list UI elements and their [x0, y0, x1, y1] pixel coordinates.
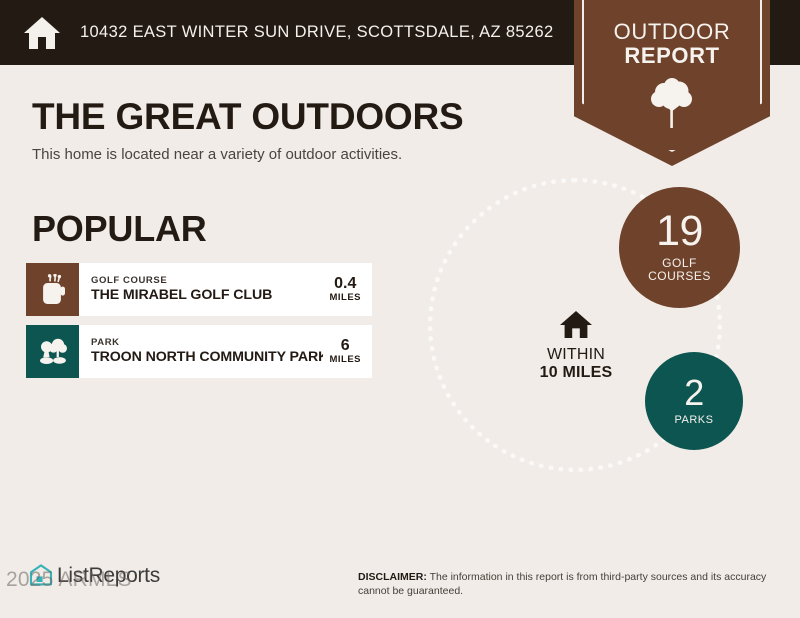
badge-title: OUTDOOR REPORT	[574, 20, 770, 68]
stat-label-line2: COURSES	[648, 269, 711, 283]
disclaimer: DISCLAIMER: The information in this repo…	[358, 570, 778, 599]
list-item-category: GOLF COURSE	[91, 276, 323, 286]
stat-label-line1: GOLF	[662, 256, 697, 270]
stat-golf-courses: 19 GOLF COURSES	[619, 187, 740, 308]
list-item[interactable]: PARK TROON NORTH COMMUNITY PARK 6 MILES	[26, 325, 372, 378]
list-item[interactable]: GOLF COURSE THE MIRABEL GOLF CLUB 0.4 MI…	[26, 263, 372, 316]
distance-unit: MILES	[329, 354, 361, 365]
badge-title-line1: OUTDOOR	[574, 20, 770, 44]
stat-parks: 2 PARKS	[645, 352, 743, 450]
distance-value: 0.4	[334, 276, 356, 293]
disclaimer-label: DISCLAIMER:	[358, 571, 427, 583]
popular-heading: POPULAR	[32, 208, 207, 250]
stat-value: 19	[656, 211, 703, 252]
within-radius-label: WITHIN 10 MILES	[520, 310, 632, 383]
list-item-name: THE MIRABEL GOLF CLUB	[91, 287, 323, 303]
outdoor-report-badge: OUTDOOR REPORT	[574, 0, 770, 166]
listreports-logo: ListReports	[28, 563, 160, 589]
outdoor-report-page: 10432 EAST WINTER SUN DRIVE, SCOTTSDALE,…	[0, 0, 800, 618]
list-item-name: TROON NORTH COMMUNITY PARK	[91, 349, 323, 365]
tree-icon	[574, 78, 770, 135]
list-item-text: PARK TROON NORTH COMMUNITY PARK	[79, 325, 323, 378]
popular-list: GOLF COURSE THE MIRABEL GOLF CLUB 0.4 MI…	[26, 263, 372, 387]
badge-title-line2: REPORT	[574, 44, 770, 68]
house-outline-icon	[28, 563, 54, 589]
house-icon	[22, 14, 62, 52]
stat-label: GOLF COURSES	[648, 257, 711, 284]
stat-label: PARKS	[675, 414, 714, 426]
logo-text: ListReports	[57, 564, 160, 588]
distance-unit: MILES	[329, 292, 361, 303]
within-line1: WITHIN	[520, 346, 632, 364]
page-title: THE GREAT OUTDOORS	[32, 96, 464, 138]
page-subtitle: This home is located near a variety of o…	[32, 146, 402, 163]
house-icon	[520, 310, 632, 340]
property-address: 10432 EAST WINTER SUN DRIVE, SCOTTSDALE,…	[80, 0, 554, 65]
park-trees-icon	[26, 325, 79, 378]
list-item-distance: 6 MILES	[323, 325, 372, 378]
distance-value: 6	[341, 338, 350, 355]
list-item-distance: 0.4 MILES	[323, 263, 372, 316]
within-line2: 10 MILES	[520, 364, 632, 382]
stat-value: 2	[684, 376, 704, 410]
list-item-category: PARK	[91, 338, 323, 348]
list-item-text: GOLF COURSE THE MIRABEL GOLF CLUB	[79, 263, 323, 316]
golf-bag-icon	[26, 263, 79, 316]
